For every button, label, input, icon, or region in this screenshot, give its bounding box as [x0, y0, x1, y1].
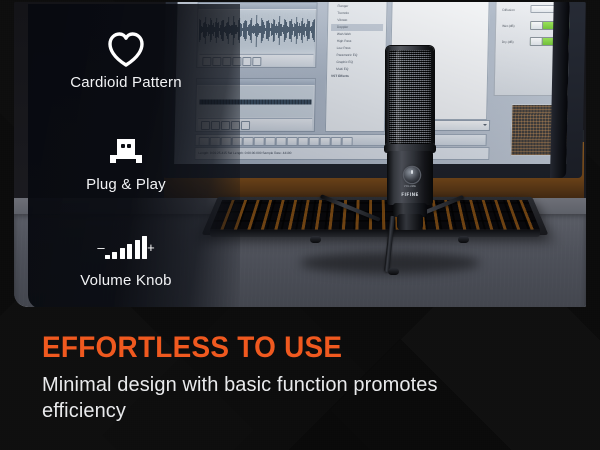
volume-level-icon: – + — [28, 226, 224, 270]
knob-label: VOLUME — [387, 185, 433, 188]
volume-minus-sign: – — [97, 241, 104, 254]
knob-indicator — [411, 170, 413, 174]
microphone: VOLUME FIFINE — [380, 46, 440, 196]
tripod-foot — [458, 236, 469, 243]
volume-bar — [127, 244, 132, 259]
feature-cardioid-pattern: Cardioid Pattern — [28, 28, 224, 91]
volume-bar — [105, 255, 110, 259]
volume-bar — [120, 248, 125, 259]
mic-body: VOLUME FIFINE — [387, 151, 433, 205]
volume-bars — [105, 237, 148, 259]
feature-label: Volume Knob — [28, 272, 224, 289]
mic-grille — [386, 46, 434, 148]
tripod-foot — [388, 268, 399, 275]
usb-plug-icon — [28, 130, 224, 174]
keyboard-backlight — [210, 200, 540, 230]
volume-bar — [112, 252, 117, 259]
promo-headline: EFFORTLESS TO USE — [42, 331, 342, 365]
cardioid-pattern-icon — [28, 28, 224, 72]
volume-plus-sign: + — [147, 241, 155, 254]
keyboard-front — [210, 230, 540, 237]
mic-highlight — [396, 50, 403, 144]
brand-logo: FIFINE — [387, 192, 433, 197]
feature-plug-and-play: Plug & Play — [28, 130, 224, 193]
mic-mount-yoke — [397, 214, 423, 230]
promo-subline: Minimal design with basic function promo… — [42, 372, 472, 424]
volume-knob[interactable] — [404, 167, 420, 183]
feature-volume-knob: – + Volume Knob — [28, 226, 224, 289]
volume-bar — [135, 240, 140, 259]
feature-label: Cardioid Pattern — [28, 74, 224, 91]
feature-label: Plug & Play — [28, 176, 224, 193]
promo-banner: FlangerTremoloVibratoDopplerWah-WahHigh … — [0, 0, 600, 450]
tripod-foot — [310, 236, 321, 243]
product-photo-panel: FlangerTremoloVibratoDopplerWah-WahHigh … — [14, 2, 586, 307]
feature-overlay: Cardioid Pattern Plug & Play – — [28, 4, 240, 307]
